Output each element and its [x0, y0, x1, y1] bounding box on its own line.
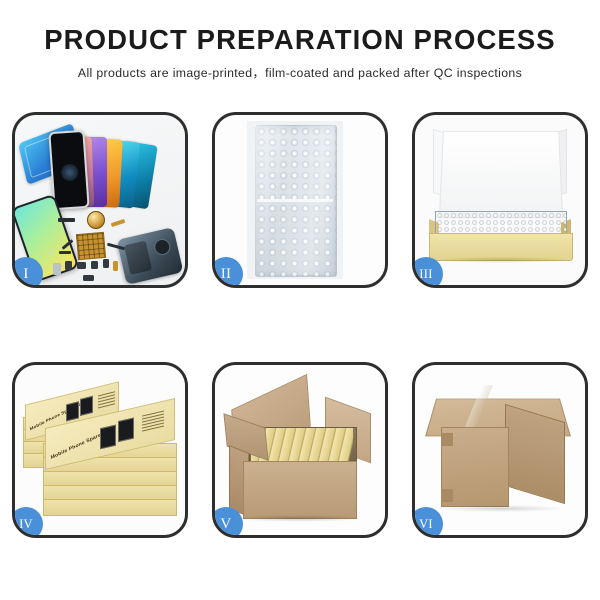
step-image-stacked-boxes: Mobile Phone Spare Parts — [15, 365, 185, 535]
step-badge-5: V — [212, 507, 243, 538]
step-badge-3: III — [412, 257, 443, 288]
sealed-carton-right-panel — [505, 404, 565, 504]
process-step-1: I — [0, 104, 200, 296]
camera-lens-icon — [87, 211, 105, 229]
stacked-box-front-5 — [43, 499, 177, 516]
step-panel-1: I — [12, 112, 188, 288]
box-label-screen-rear-1 — [66, 401, 79, 421]
box-lid-icon — [439, 131, 563, 218]
part-small-6 — [113, 261, 118, 271]
step-badge-2: II — [212, 257, 243, 288]
part-small-4 — [103, 259, 109, 268]
carton-handle-notch-top — [441, 433, 453, 446]
bubble-wrap-seam — [257, 199, 333, 202]
step-image-sealed-carton — [415, 365, 585, 535]
part-small-7 — [83, 275, 94, 281]
step-panel-5: V — [212, 362, 388, 538]
step-panel-3: III — [412, 112, 588, 288]
part-small-3 — [91, 261, 98, 269]
step-panel-4: Mobile Phone Spare Parts — [12, 362, 188, 538]
phone-fan-group — [67, 123, 185, 207]
box-label-lines-front — [142, 411, 164, 434]
step-image-open-carton — [215, 365, 385, 535]
part-small-2 — [77, 262, 86, 269]
step-panel-6: VI — [412, 362, 588, 538]
part-small-5 — [53, 263, 61, 275]
process-step-6: VI — [400, 354, 600, 546]
part-gold-connector — [111, 219, 126, 227]
step-image-products — [15, 115, 185, 285]
step-panel-2: II — [212, 112, 388, 288]
step-badge-6: VI — [412, 507, 443, 538]
box-label-screen-front-2 — [118, 417, 134, 442]
carton-front-panel — [243, 461, 357, 519]
carton-shadow — [237, 515, 361, 522]
process-step-grid: I II III — [0, 104, 600, 546]
box-label-screen-rear-2 — [80, 396, 93, 416]
chip-board-icon — [76, 232, 106, 260]
process-step-5: V — [200, 354, 400, 546]
step-image-bubble-wrap — [215, 115, 385, 285]
part-bar-1 — [58, 218, 75, 222]
step-badge-4: IV — [12, 507, 43, 538]
phone-back-cover-icon — [117, 227, 184, 285]
page-header: PRODUCT PREPARATION PROCESS All products… — [0, 0, 600, 81]
box-shadow — [433, 257, 569, 263]
part-small-1 — [65, 261, 72, 270]
box-label-lines-rear — [98, 391, 115, 410]
box-stack-group: Mobile Phone Spare Parts — [23, 379, 179, 523]
sealed-carton-shadow — [439, 505, 563, 512]
part-bar-3 — [59, 251, 71, 254]
page-title: PRODUCT PREPARATION PROCESS — [0, 26, 600, 55]
box-label-screen-front-1 — [100, 425, 116, 450]
step-image-inner-box — [415, 115, 585, 285]
process-step-2: II — [200, 104, 400, 296]
page-subtitle: All products are image-printed，film-coat… — [0, 63, 600, 81]
carton-handle-notch-bottom — [441, 489, 453, 502]
process-step-4: Mobile Phone Spare Parts — [0, 354, 200, 546]
step-badge-1: I — [12, 257, 43, 288]
process-step-3: III — [400, 104, 600, 296]
